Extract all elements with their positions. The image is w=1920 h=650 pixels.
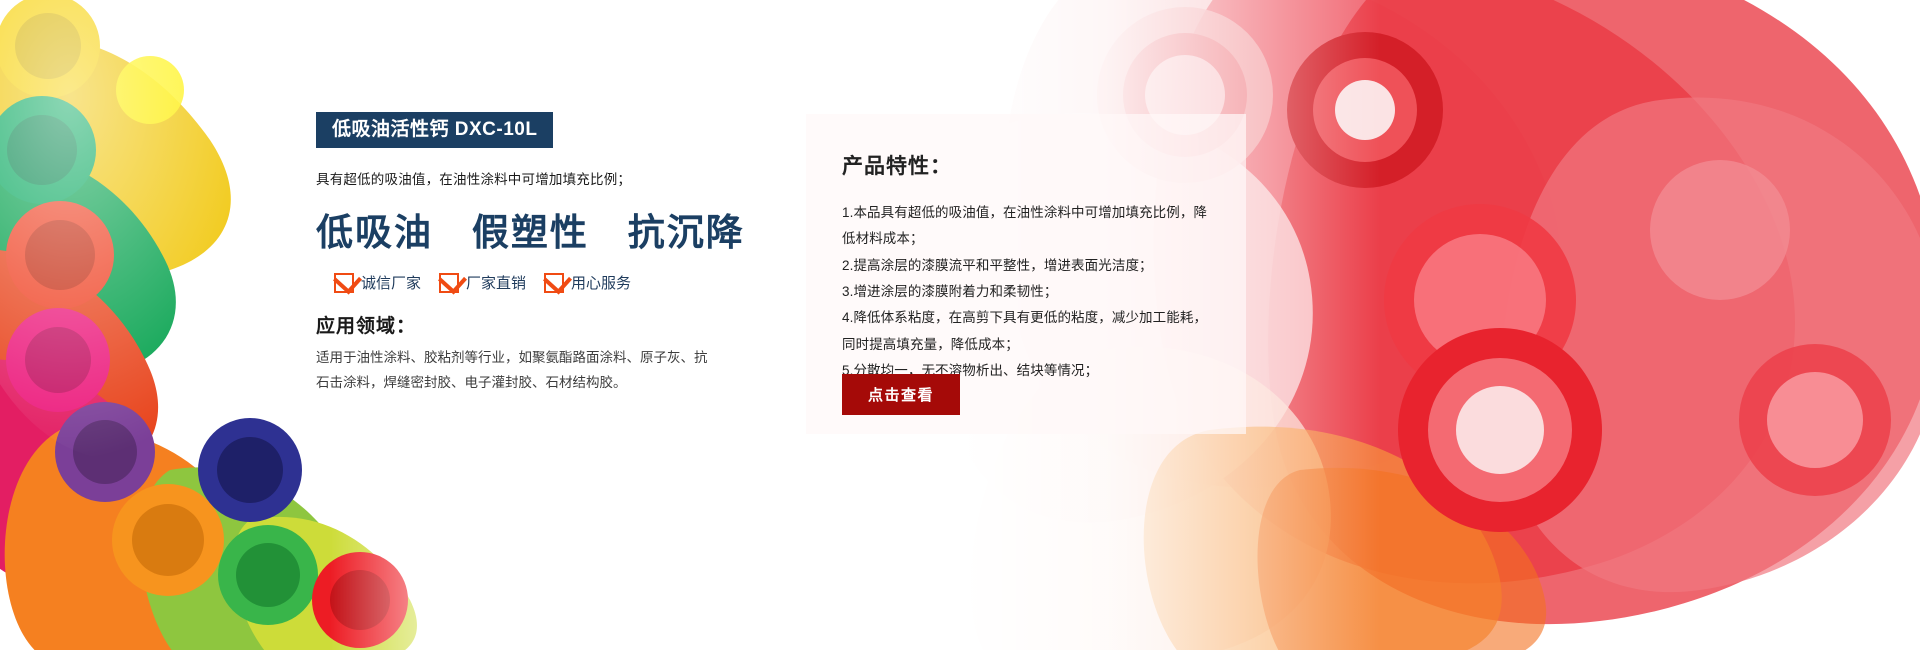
view-details-button[interactable]: 点击查看 xyxy=(842,374,960,415)
product-subtitle: 具有超低的吸油值，在油性涂料中可增加填充比例； xyxy=(316,168,736,188)
trust-badge-2: 厂家直销 xyxy=(439,272,526,293)
features-panel-title: 产品特性： xyxy=(842,150,952,180)
headline-word-3: 抗沉降 xyxy=(628,210,745,254)
trust-badge-1: 诚信厂家 xyxy=(334,272,421,293)
checkbox-checked-icon xyxy=(439,273,459,293)
banner-content: 低吸油活性钙 DXC-10L 具有超低的吸油值，在油性涂料中可增加填充比例； 低… xyxy=(0,0,1920,650)
headline-keywords: 低吸油 假塑性 抗沉降 xyxy=(316,202,736,256)
application-section-title: 应用领域： xyxy=(316,311,736,338)
feature-item-1: 1.本品具有超低的吸油值，在油性涂料中可增加填充比例，降低材料成本； xyxy=(842,200,1220,253)
trust-badge-1-label: 诚信厂家 xyxy=(361,272,421,293)
product-features-panel: 产品特性： 1.本品具有超低的吸油值，在油性涂料中可增加填充比例，降低材料成本；… xyxy=(806,114,1246,434)
checkbox-checked-icon xyxy=(334,273,354,293)
feature-item-4: 4.降低体系粘度，在高剪下具有更低的粘度，减少加工能耗，同时提高填充量，降低成本… xyxy=(842,305,1220,358)
trust-badge-3: 用心服务 xyxy=(544,272,631,293)
feature-item-3: 3.增进涂层的漆膜附着力和柔韧性； xyxy=(842,279,1220,305)
trust-badge-2-label: 厂家直销 xyxy=(466,272,526,293)
product-title-badge: 低吸油活性钙 DXC-10L xyxy=(316,112,553,148)
headline-word-2: 假塑性 xyxy=(472,210,589,254)
banner-stage: 低吸油活性钙 DXC-10L 具有超低的吸油值，在油性涂料中可增加填充比例； 低… xyxy=(0,0,1920,650)
left-text-column: 低吸油活性钙 DXC-10L 具有超低的吸油值，在油性涂料中可增加填充比例； 低… xyxy=(316,112,736,396)
trust-badge-row: 诚信厂家 厂家直销 用心服务 xyxy=(316,272,736,293)
feature-item-2: 2.提高涂层的漆膜流平和平整性，增进表面光洁度； xyxy=(842,253,1220,279)
trust-badge-3-label: 用心服务 xyxy=(571,272,631,293)
features-list: 1.本品具有超低的吸油值，在油性涂料中可增加填充比例，降低材料成本； 2.提高涂… xyxy=(842,200,1220,384)
headline-word-1: 低吸油 xyxy=(316,210,433,254)
checkbox-checked-icon xyxy=(544,273,564,293)
application-description: 适用于油性涂料、胶粘剂等行业，如聚氨酯路面涂料、原子灰、抗石击涂料，焊缝密封胶、… xyxy=(316,346,716,396)
